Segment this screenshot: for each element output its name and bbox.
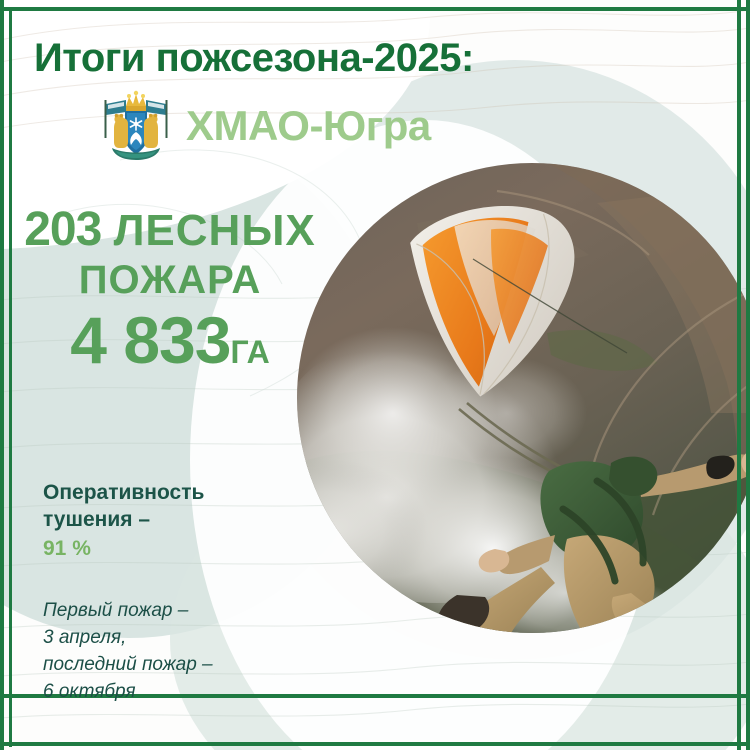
region-name: ХМАО-Югра bbox=[186, 102, 431, 150]
frame-left-outer-line bbox=[0, 0, 4, 750]
frame-right-inner-line bbox=[737, 0, 741, 750]
efficiency-value: 91 % bbox=[43, 536, 303, 563]
smokejumper-photo bbox=[297, 163, 750, 633]
efficiency-label-line1: Оперативность bbox=[43, 480, 303, 507]
burned-area-value: 4 833 bbox=[70, 303, 230, 377]
season-dates-block: Первый пожар – 3 апреля, последний пожар… bbox=[43, 598, 313, 706]
frame-top-line bbox=[0, 7, 750, 11]
efficiency-label-line2: тушения – bbox=[43, 507, 303, 534]
fires-word: ПОЖАРА bbox=[0, 257, 340, 303]
infographic-poster: Итоги пожсезона-2025: bbox=[0, 0, 750, 750]
fires-count-unit: ЛЕСНЫХ bbox=[114, 206, 316, 255]
season-date-line: Первый пожар – bbox=[43, 598, 313, 625]
burned-area-unit: ГА bbox=[230, 334, 269, 370]
season-date-line: 6 октября bbox=[43, 679, 313, 706]
burned-area-line: 4 833ГА bbox=[0, 307, 340, 373]
season-date-line: последний пожар – bbox=[43, 652, 313, 679]
statistics-block: 203 ЛЕСНЫХ ПОЖАРА 4 833ГА bbox=[0, 205, 340, 373]
frame-left-inner-line bbox=[9, 7, 12, 747]
frame-right-outer-line bbox=[746, 0, 750, 750]
region-row: ХМАО-Югра bbox=[100, 88, 431, 164]
fires-count-line: 203 ЛЕСНЫХ bbox=[0, 205, 340, 255]
efficiency-block: Оперативность тушения – 91 % bbox=[43, 480, 303, 563]
page-title: Итоги пожсезона-2025: bbox=[34, 36, 474, 81]
fires-count-value: 203 bbox=[24, 203, 101, 256]
frame-bottom-outer-line bbox=[0, 742, 750, 746]
khmao-coat-of-arms-icon bbox=[100, 88, 172, 164]
season-date-line: 3 апреля, bbox=[43, 625, 313, 652]
